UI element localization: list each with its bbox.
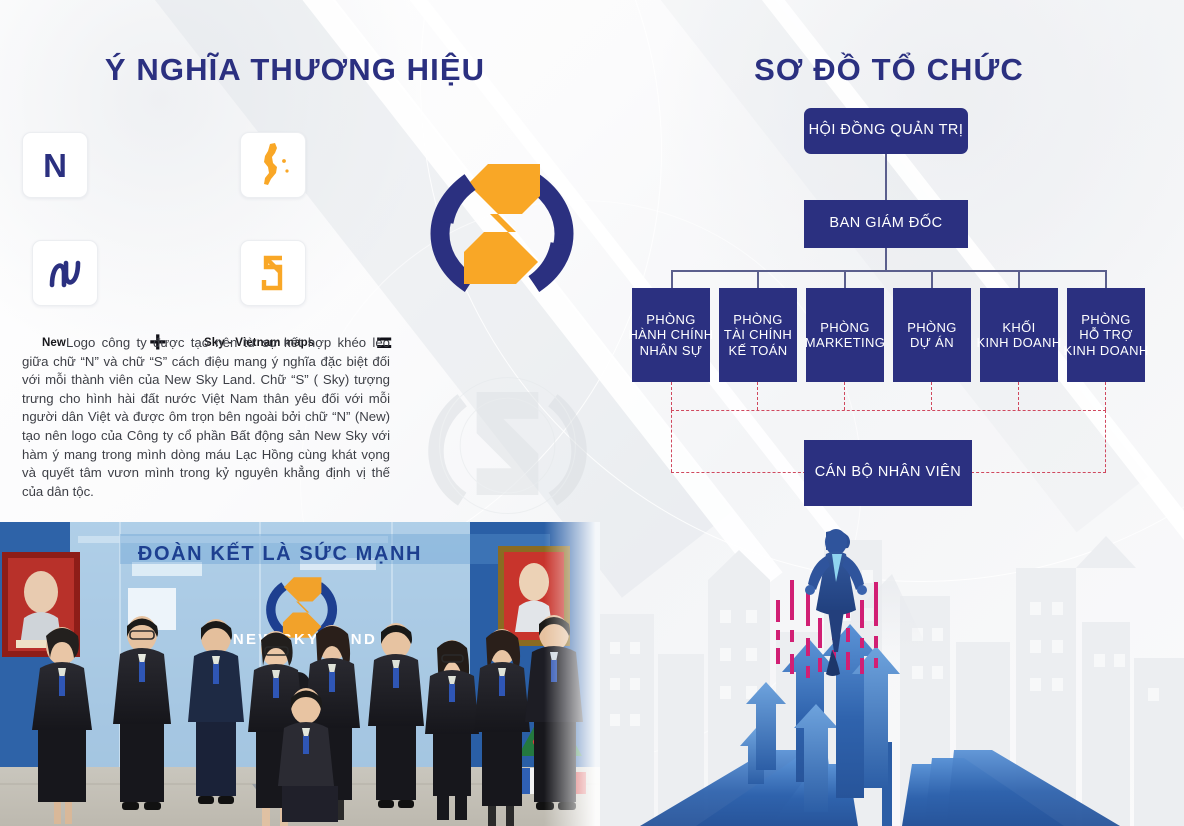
org-node-label: CÁN BỘ NHÂN VIÊN — [815, 465, 962, 481]
poster-page: Ý NGHĨA THƯƠNG HIỆU SƠ ĐỒ TỔ CHỨC N — [0, 0, 1184, 826]
org-node-phong-hanh-chinh-nhan-su[interactable]: PHÒNG HÀNH CHÍNH NHÂN SỰ — [632, 288, 710, 382]
connector-bus-horizontal — [671, 270, 1105, 272]
connector-drop-1 — [671, 270, 673, 288]
dashed-right-riser — [1105, 410, 1106, 472]
vietnam-map-tile — [240, 132, 306, 198]
org-node-label: KẾ TOÁN — [724, 343, 792, 359]
connector-bgd-down — [885, 248, 887, 270]
org-node-phong-ho-tro-kinh-doanh[interactable]: PHÒNG HỖ TRỢ KINH DOANH — [1067, 288, 1145, 382]
svg-text:NEW SKY LAND: NEW SKY LAND — [233, 631, 377, 648]
brand-description-paragraph: Logo công ty được tạo nên từ sự kết hợp … — [22, 334, 390, 501]
svg-text:ĐOÀN KẾT LÀ SỨC MẠNH: ĐOÀN KẾT LÀ SỨC MẠNH — [138, 541, 422, 565]
dashed-drop-6 — [1105, 382, 1106, 410]
org-node-label: KINH DOANH — [976, 335, 1061, 351]
connector-drop-6 — [1105, 270, 1107, 288]
connector-drop-2 — [757, 270, 759, 288]
org-node-ban-giam-doc[interactable]: BAN GIÁM ĐỐC — [804, 200, 968, 248]
org-node-label: PHÒNG — [1063, 312, 1148, 328]
org-node-label: PHÒNG — [628, 312, 713, 328]
right-section-title: SƠ ĐỒ TỔ CHỨC — [594, 52, 1184, 88]
org-node-khoi-kinh-doanh[interactable]: KHỐI KINH DOANH — [980, 288, 1058, 382]
team-photo: ĐOÀN KẾT LÀ SỨC MẠNH NEW SKY LAND — [0, 522, 600, 826]
letter-n-tile: N — [22, 132, 88, 198]
org-node-label: MARKETING — [805, 335, 885, 351]
org-node-label: HỖ TRỢ — [1063, 327, 1148, 343]
dashed-bus-horizontal — [671, 410, 1106, 411]
dashed-drop-2 — [757, 382, 758, 410]
brand-formula: N New Sky - Vietnam maps + = — [18, 128, 396, 308]
org-node-label: KINH DOANH — [1063, 343, 1148, 359]
connector-hdqt-to-bgd — [885, 154, 887, 200]
org-node-phong-du-an[interactable]: PHÒNG DỰ ÁN — [893, 288, 971, 382]
svg-text:N: N — [43, 147, 67, 184]
org-node-label: PHÒNG — [805, 320, 885, 336]
letter-s-tile — [240, 240, 306, 306]
growth-illustration — [600, 522, 1184, 826]
left-section-title: Ý NGHĨA THƯƠNG HIỆU — [0, 52, 590, 88]
org-node-label: BAN GIÁM ĐỐC — [829, 216, 942, 232]
org-node-label: DỰ ÁN — [907, 335, 956, 351]
dashed-drop-5 — [1018, 382, 1019, 410]
dashed-left-riser — [671, 410, 672, 472]
connector-drop-5 — [1018, 270, 1020, 288]
org-node-label: PHÒNG — [724, 312, 792, 328]
org-node-label: KHỐI — [976, 320, 1061, 336]
connector-drop-3 — [844, 270, 846, 288]
org-node-phong-tai-chinh-ke-toan[interactable]: PHÒNG TÀI CHÍNH KẾ TOÁN — [719, 288, 797, 382]
dashed-right-entry — [971, 472, 1106, 473]
new-sky-land-logo-icon — [412, 138, 592, 310]
dashed-left-entry — [671, 472, 806, 473]
org-chart: HỘI ĐỒNG QUẢN TRỊ BAN GIÁM ĐỐC PHÒNG HÀN… — [594, 100, 1184, 520]
dashed-drop-1 — [671, 382, 672, 410]
org-node-label: NHÂN SỰ — [628, 343, 713, 359]
dashed-drop-4 — [931, 382, 932, 410]
letter-n-stylized-tile — [32, 240, 98, 306]
org-node-label: HÀNH CHÍNH — [628, 327, 713, 343]
org-node-label: PHÒNG — [907, 320, 956, 336]
connector-drop-4 — [931, 270, 933, 288]
org-node-label: HỘI ĐỒNG QUẢN TRỊ — [809, 123, 964, 139]
org-node-can-bo-nhan-vien[interactable]: CÁN BỘ NHÂN VIÊN — [804, 440, 972, 506]
dashed-drop-3 — [844, 382, 845, 410]
org-node-hoi-dong-quan-tri[interactable]: HỘI ĐỒNG QUẢN TRỊ — [804, 108, 968, 154]
org-node-label: TÀI CHÍNH — [724, 327, 792, 343]
org-node-phong-marketing[interactable]: PHÒNG MARKETING — [806, 288, 884, 382]
